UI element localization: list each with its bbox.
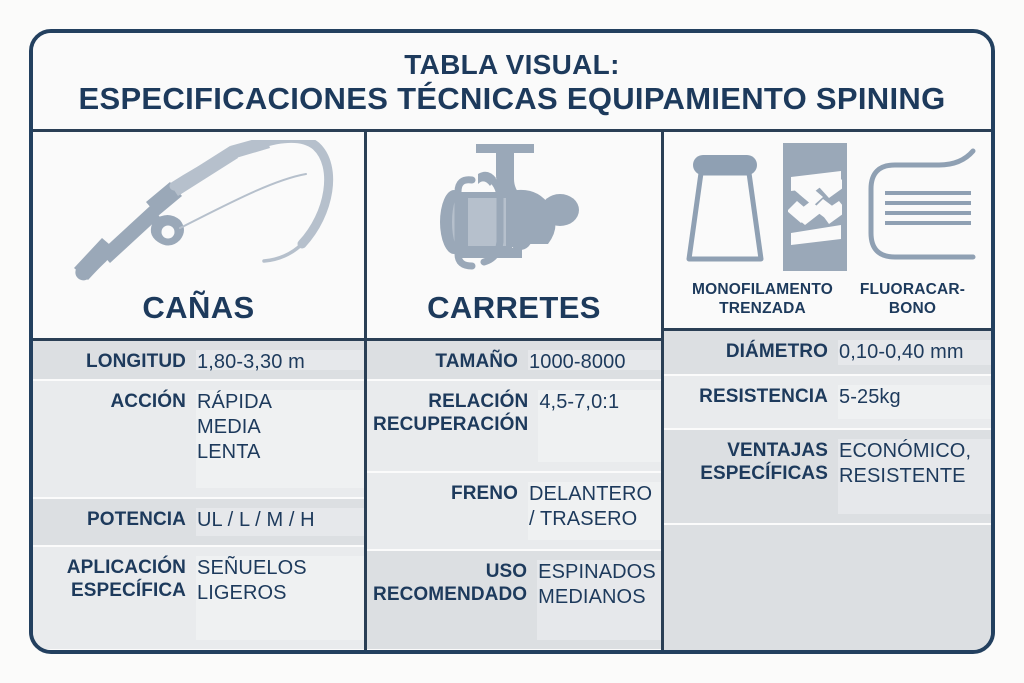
row-label: USO RECOMENDADO bbox=[373, 560, 537, 606]
caption-fluorocarbono: FLUORACAR- BONO bbox=[853, 281, 973, 318]
table-row: APLICACIÓN ESPECÍFICA SEÑUELOS LIGEROS bbox=[33, 547, 364, 651]
row-value: DELANTERO / TRASERO bbox=[528, 482, 661, 540]
row-label: VENTAJAS ESPECÍFICAS bbox=[670, 439, 838, 485]
fishing-rod-icon bbox=[54, 140, 344, 290]
row-value: RÁPIDA MEDIA LENTA bbox=[196, 390, 364, 488]
column-header-rods: CAÑAS bbox=[33, 132, 364, 341]
spec-rows-reels: TAMAÑO 1000-8000 RELACIÓN RECUPERACIÓN 4… bbox=[367, 341, 661, 650]
row-label: DIÁMETRO bbox=[670, 340, 838, 363]
table-row: LONGITUD 1,80-3,30 m bbox=[33, 341, 364, 381]
line-type-captions: MONOFILAMENTO TRENZADA FLUORACAR- BONO bbox=[664, 281, 991, 328]
title-line-primary: TABLA VISUAL: bbox=[404, 49, 619, 81]
title-line-secondary: ESPECIFICACIONES TÉCNICAS EQUIPAMIENTO S… bbox=[79, 81, 946, 116]
row-value: SEÑUELOS LIGEROS bbox=[196, 556, 364, 640]
row-value: UL / L / M / H bbox=[196, 508, 364, 536]
row-label: RESISTENCIA bbox=[670, 385, 838, 408]
table-row: RELACIÓN RECUPERACIÓN 4,5-7,0:1 bbox=[367, 381, 661, 473]
table-row: POTENCIA UL / L / M / H bbox=[33, 499, 364, 547]
row-value: ESPINADOS MEDIANOS bbox=[537, 560, 661, 640]
column-caption-rods: CAÑAS bbox=[142, 290, 254, 338]
table-row: FRENO DELANTERO / TRASERO bbox=[367, 473, 661, 551]
braided-line-icon bbox=[783, 143, 847, 271]
spec-table-card: TABLA VISUAL: ESPECIFICACIONES TÉCNICAS … bbox=[29, 29, 995, 654]
table-row: TAMAÑO 1000-8000 bbox=[367, 341, 661, 381]
icon-area-rods bbox=[33, 140, 364, 290]
spec-rows-rods: LONGITUD 1,80-3,30 m ACCIÓN RÁPIDA MEDIA… bbox=[33, 341, 364, 650]
coiled-line-icon bbox=[871, 151, 973, 257]
table-row: USO RECOMENDADO ESPINADOS MEDIANOS bbox=[367, 551, 661, 651]
table-row: RESISTENCIA 5-25kg bbox=[664, 376, 991, 430]
row-value: 5-25kg bbox=[838, 385, 991, 419]
row-label: APLICACIÓN ESPECÍFICA bbox=[41, 556, 196, 602]
row-value: 4,5-7,0:1 bbox=[538, 390, 661, 462]
row-filler bbox=[664, 525, 991, 650]
row-label: LONGITUD bbox=[41, 350, 196, 373]
column-lines: MONOFILAMENTO TRENZADA FLUORACAR- BONO D… bbox=[661, 132, 991, 650]
column-reels: CARRETES TAMAÑO 1000-8000 RELACIÓN RECUP… bbox=[364, 132, 661, 650]
caption-monofilamento-trenzada: MONOFILAMENTO TRENZADA bbox=[683, 281, 843, 318]
spec-rows-lines: DIÁMETRO 0,10-0,40 mm RESISTENCIA 5-25kg… bbox=[664, 331, 991, 650]
columns-container: CAÑAS LONGITUD 1,80-3,30 m ACCIÓN RÁPIDA… bbox=[33, 132, 991, 650]
row-value: 1,80-3,30 m bbox=[196, 350, 364, 370]
row-value: 0,10-0,40 mm bbox=[838, 340, 991, 365]
row-label: FRENO bbox=[373, 482, 528, 505]
row-value: 1000-8000 bbox=[528, 350, 661, 370]
row-label: ACCIÓN bbox=[41, 390, 196, 413]
row-label: POTENCIA bbox=[41, 508, 196, 531]
line-spool-icon bbox=[689, 155, 761, 259]
column-header-lines: MONOFILAMENTO TRENZADA FLUORACAR- BONO bbox=[664, 132, 991, 331]
table-row: VENTAJAS ESPECÍFICAS ECONÓMICO, RESISTEN… bbox=[664, 430, 991, 525]
table-title: TABLA VISUAL: ESPECIFICACIONES TÉCNICAS … bbox=[33, 33, 991, 132]
icon-area-reels bbox=[367, 140, 661, 290]
table-row: ACCIÓN RÁPIDA MEDIA LENTA bbox=[33, 381, 364, 499]
icon-area-lines bbox=[664, 140, 991, 281]
column-rods: CAÑAS LONGITUD 1,80-3,30 m ACCIÓN RÁPIDA… bbox=[33, 132, 364, 650]
spinning-reel-icon bbox=[414, 140, 614, 290]
row-value: ECONÓMICO, RESISTENTE bbox=[838, 439, 991, 514]
row-label: TAMAÑO bbox=[373, 350, 528, 373]
column-header-reels: CARRETES bbox=[367, 132, 661, 341]
row-label: RELACIÓN RECUPERACIÓN bbox=[373, 390, 538, 436]
column-caption-reels: CARRETES bbox=[427, 290, 601, 338]
table-row: DIÁMETRO 0,10-0,40 mm bbox=[664, 331, 991, 376]
infographic-page: TABLA VISUAL: ESPECIFICACIONES TÉCNICAS … bbox=[0, 0, 1024, 683]
